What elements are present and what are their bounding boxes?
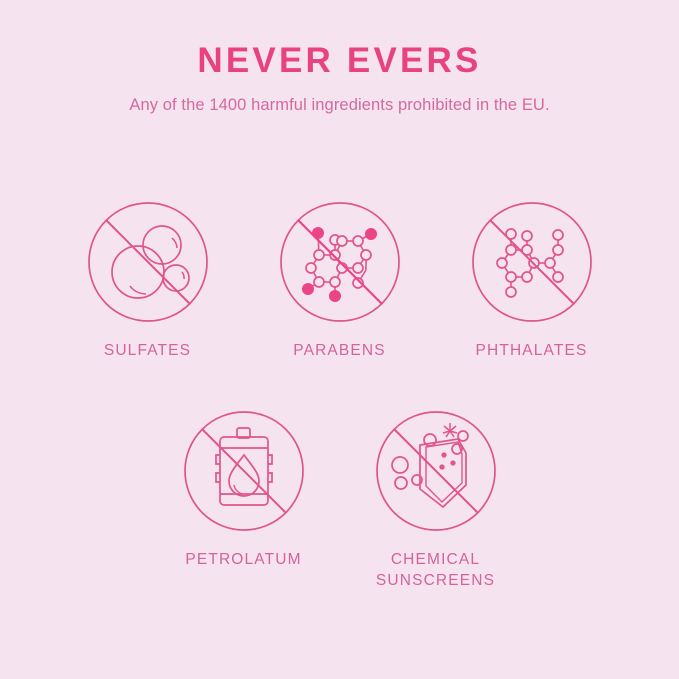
page-title: NEVER EVERS xyxy=(0,40,679,82)
ingredient-item-parabens: PARABENS xyxy=(277,200,403,361)
ingredient-label-sulfates: SULFATES xyxy=(104,340,191,361)
ingredient-item-chemical-sunscreens: CHEMICAL SUNSCREENS xyxy=(373,409,499,591)
page-subtitle: Any of the 1400 harmful ingredients proh… xyxy=(0,94,679,116)
ingredient-label-parabens: PARABENS xyxy=(293,340,385,361)
ingredient-item-phthalates: PHTHALATES xyxy=(469,200,595,361)
ingredient-grid: SULFATES xyxy=(0,200,679,591)
ingredient-label-petrolatum: PETROLATUM xyxy=(185,549,301,570)
ingredient-label-phthalates: PHTHALATES xyxy=(476,340,588,361)
no-sulfates-bubbles-icon xyxy=(86,200,210,324)
no-petrolatum-barrel-icon xyxy=(182,409,306,533)
no-chemical-sunscreen-shield-icon xyxy=(374,409,498,533)
ingredient-label-chemical-sunscreens: CHEMICAL SUNSCREENS xyxy=(376,549,495,591)
no-parabens-molecule-icon xyxy=(278,200,402,324)
ingredient-row-bottom: PETROLATUM xyxy=(0,409,679,591)
never-evers-infographic: NEVER EVERS Any of the 1400 harmful ingr… xyxy=(0,0,679,679)
ingredient-row-top: SULFATES xyxy=(0,200,679,361)
ingredient-item-petrolatum: PETROLATUM xyxy=(181,409,307,570)
no-phthalates-molecule-icon xyxy=(470,200,594,324)
ingredient-item-sulfates: SULFATES xyxy=(85,200,211,361)
header: NEVER EVERS Any of the 1400 harmful ingr… xyxy=(0,40,679,116)
